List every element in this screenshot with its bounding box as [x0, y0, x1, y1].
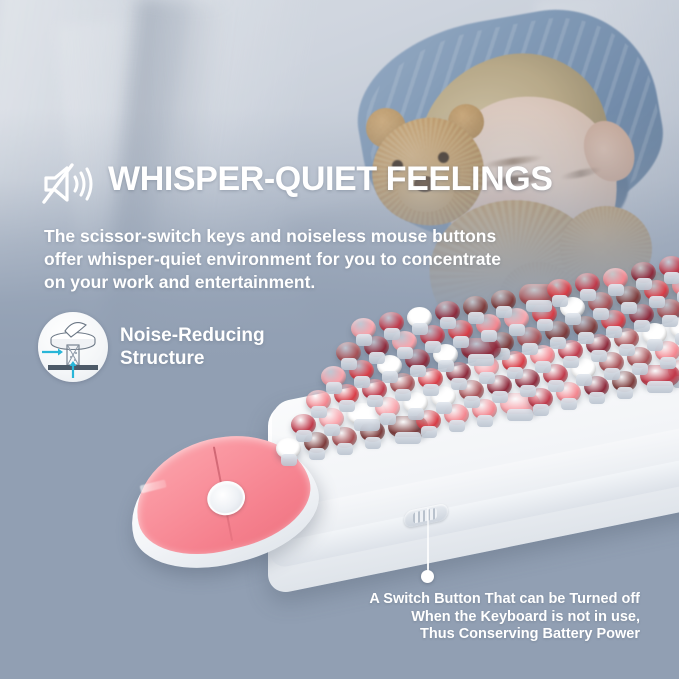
keycap-stem — [449, 420, 465, 432]
keycap-stem — [634, 320, 650, 332]
feature-badge-label: Noise-Reducing Structure — [120, 324, 265, 370]
callout-leader-dot — [421, 570, 434, 583]
keycap-stem — [356, 334, 372, 346]
keycap-stem — [660, 357, 676, 369]
callout-line-2: When the Keyboard is not in use, — [220, 609, 640, 627]
keycap[interactable] — [631, 262, 656, 283]
keycap[interactable] — [407, 307, 432, 328]
keycap-stem — [369, 352, 385, 364]
marketing-banner: WHISPER-QUIET FEELINGS The scissor-switc… — [0, 0, 679, 679]
callout-line-3: Thus Conserving Battery Power — [220, 626, 640, 644]
keycap-stem — [384, 328, 400, 340]
keycap[interactable] — [575, 273, 600, 294]
keycap[interactable] — [463, 296, 488, 317]
keycap-stem — [507, 409, 533, 421]
keycap-stem — [662, 315, 678, 327]
keycap-stem — [649, 296, 665, 308]
keycap-stem — [591, 350, 607, 362]
keycap-stem — [337, 443, 353, 455]
keycap-stem — [481, 330, 497, 342]
callout-text: A Switch Button That can be Turned off W… — [220, 591, 640, 644]
keycap-stem — [468, 312, 484, 324]
keycap-stem — [580, 289, 596, 301]
keycap-stem — [395, 389, 411, 401]
keycap-stem — [324, 424, 340, 436]
keycap[interactable] — [379, 312, 404, 333]
keycap-stem — [548, 380, 564, 392]
keycap-stem — [619, 344, 635, 356]
keycap-stem — [395, 432, 421, 444]
keycap-stem — [617, 387, 633, 399]
keycap-stem — [647, 381, 673, 393]
keycap-stem — [382, 371, 398, 383]
feature-badge-label-line-1: Noise-Reducing — [120, 324, 265, 347]
keycap-stem — [526, 300, 552, 312]
keycap-stem — [397, 347, 413, 359]
keycap-stem — [423, 384, 439, 396]
keycap[interactable] — [603, 268, 628, 289]
callout-line-1: A Switch Button That can be Turned off — [220, 591, 640, 609]
keycap-stem — [578, 332, 594, 344]
feature-badge-label-line-2: Structure — [120, 347, 265, 370]
keycap-stem — [509, 324, 525, 336]
keycap-stem — [410, 365, 426, 377]
keycap-stem — [621, 302, 637, 314]
keycap-stem — [365, 437, 381, 449]
keycap-stem — [496, 306, 512, 318]
keycap-stem — [296, 430, 312, 442]
keycap-stem — [533, 404, 549, 416]
keycap-stem — [412, 323, 428, 335]
keycap-stem — [537, 319, 553, 331]
keycap-stem — [552, 295, 568, 307]
keycap-stem — [341, 358, 357, 370]
keycap-stem — [593, 308, 609, 320]
keycap-stem — [354, 376, 370, 388]
keycap-stem — [425, 341, 441, 353]
keycap[interactable] — [351, 318, 376, 339]
keycap-stem — [468, 354, 494, 366]
keycap-stem — [608, 284, 624, 296]
keycap-cluster — [268, 262, 679, 562]
keycap-stem — [326, 382, 342, 394]
keycap-stem — [464, 396, 480, 408]
keycap-stem — [451, 378, 467, 390]
keycap-stem — [550, 337, 566, 349]
keycap-stem — [438, 360, 454, 372]
keycap-stem — [561, 398, 577, 410]
keycap[interactable] — [659, 256, 679, 277]
keycap-stem — [606, 326, 622, 338]
keycap-stem — [632, 363, 648, 375]
keycap[interactable] — [491, 290, 516, 311]
noise-reducing-structure-icon — [38, 312, 108, 382]
keycap-stem — [421, 426, 437, 438]
keycap-stem — [479, 372, 495, 384]
keycap-stem — [380, 413, 396, 425]
body-copy-line-1: The scissor-switch keys and noiseless mo… — [44, 225, 564, 248]
keycap-stem — [535, 361, 551, 373]
keycap-stem — [311, 406, 327, 418]
keycap-stem — [507, 367, 523, 379]
keycap-stem — [477, 415, 493, 427]
keycap-stem — [522, 343, 538, 355]
keycap-stem — [492, 391, 508, 403]
keycap-stem — [367, 395, 383, 407]
keycap[interactable] — [435, 301, 460, 322]
page-title: WHISPER-QUIET FEELINGS — [108, 160, 628, 198]
keycap-stem — [589, 392, 605, 404]
keycap-stem — [408, 408, 424, 420]
keyboard-product-image — [268, 262, 679, 562]
callout-leader-line — [427, 508, 429, 572]
keycap-stem — [647, 339, 663, 351]
keycap-stem — [675, 333, 679, 345]
keycap-stem — [664, 272, 679, 284]
keycap-stem — [563, 356, 579, 368]
keycap-stem — [436, 402, 452, 414]
mute-speaker-icon — [42, 162, 100, 206]
keycap-stem — [576, 374, 592, 386]
keycap[interactable] — [547, 279, 572, 300]
keycap-stem — [281, 454, 297, 466]
keycap-stem — [520, 385, 536, 397]
feature-badge: Noise-Reducing Structure — [38, 312, 265, 382]
keycap-stem — [453, 336, 469, 348]
keycap-stem — [440, 317, 456, 329]
keycap-stem — [339, 400, 355, 412]
keycap-stem — [354, 419, 380, 431]
keycap-stem — [565, 313, 581, 325]
keycap-stem — [309, 448, 325, 460]
keycap-stem — [636, 278, 652, 290]
keycap-stem — [604, 368, 620, 380]
